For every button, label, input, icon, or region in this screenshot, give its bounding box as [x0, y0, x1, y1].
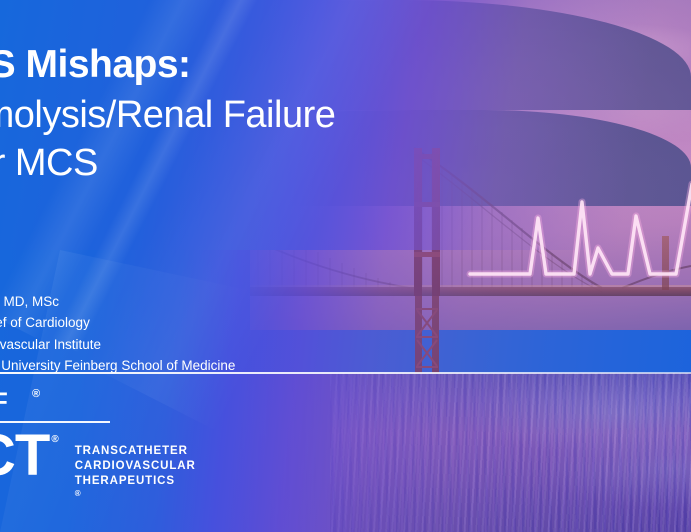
title-slide: CS Mishaps: emolysis/Renal Failure ter M… [0, 0, 691, 532]
registered-trademark-icon: ® [32, 388, 40, 400]
crf-wordmark: RF [0, 388, 8, 417]
tagline-line-3-wrap: THERAPEUTICS® [75, 474, 196, 504]
author-title: te Chief of Cardiology [0, 312, 480, 333]
page-title: CS Mishaps: emolysis/Renal Failure ter M… [0, 44, 522, 184]
horizontal-divider [0, 372, 691, 374]
registered-trademark-icon: ® [51, 434, 58, 445]
registered-trademark-icon: ® [75, 489, 82, 498]
tagline-line-2: CARDIOVASCULAR [75, 459, 196, 474]
tct-logo: CT ® TRANSCATHETER CARDIOVASCULAR THERAP… [0, 428, 196, 504]
tct-tagline: TRANSCATHETER CARDIOVASCULAR THERAPEUTIC… [75, 444, 196, 504]
author-institute: Cardiovascular Institute [0, 334, 480, 355]
title-line-1: CS Mishaps: [0, 44, 522, 87]
author-affiliation-block: Wilcox MD, MSc te Chief of Cardiology Ca… [0, 291, 480, 376]
crf-tct-logo: RF ® CT ® TRANSCATHETER CARDIOVASCULAR T… [0, 388, 274, 418]
crf-logo: RF ® [0, 388, 274, 418]
tagline-line-1: TRANSCATHETER [75, 444, 196, 459]
ecg-heartbeat-icon [470, 178, 691, 308]
title-line-2: emolysis/Renal Failure [0, 95, 522, 137]
tagline-line-3: THERAPEUTICS [75, 474, 196, 489]
tct-wordmark: CT [0, 428, 49, 483]
title-line-3: ter MCS [0, 143, 522, 185]
author-name: Wilcox MD, MSc [0, 291, 480, 312]
